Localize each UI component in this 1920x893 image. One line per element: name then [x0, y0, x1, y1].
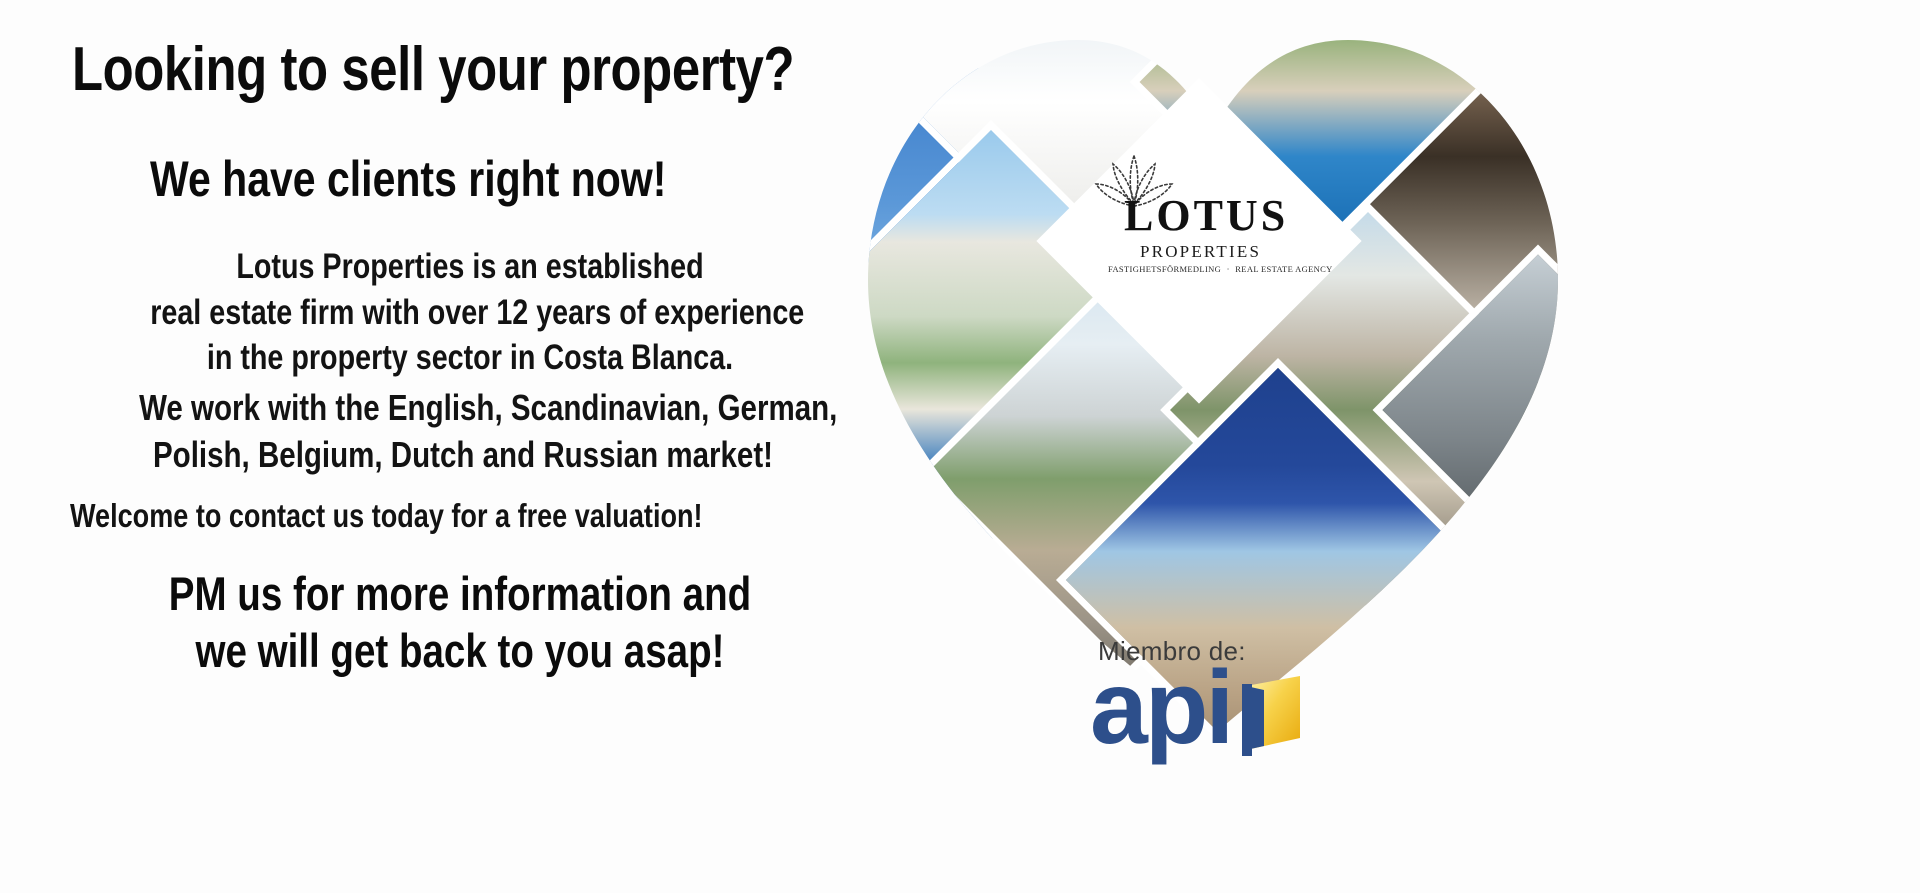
paragraph-valuation-invite: Welcome to contact us today for a free v… — [70, 495, 870, 538]
api-wordmark: api — [1090, 656, 1231, 760]
lotus-wordmark: LOTUS — [1124, 194, 1288, 238]
call-to-action: PM us for more information and we will g… — [60, 565, 860, 680]
lotus-tagline: FASTIGHETSFÖRMEDLING · REAL ESTATE AGENC… — [1108, 264, 1333, 274]
cta-line: PM us for more information and — [132, 565, 788, 622]
tagline-swedish: FASTIGHETSFÖRMEDLING — [1108, 264, 1221, 274]
paragraph-line: Polish, Belgium, Dutch and Russian marke… — [139, 432, 787, 479]
paragraph-line: Welcome to contact us today for a free v… — [70, 495, 726, 538]
paragraph-line: in the property sector in Costa Blanca. — [150, 335, 790, 381]
advertisement-poster: Looking to sell your property? We have c… — [0, 0, 1920, 893]
paragraph-markets: We work with the English, Scandinavian, … — [68, 385, 858, 479]
api-membership-badge: Miembro de: api — [1090, 636, 1310, 776]
paragraph-line: real estate firm with over 12 years of e… — [150, 290, 790, 336]
cta-line: we will get back to you asap! — [132, 622, 788, 679]
page-headline: Looking to sell your property? — [72, 34, 794, 105]
lotus-logo: LOTUS PROPERTIES FASTIGHETSFÖRMEDLING · … — [1080, 150, 1330, 320]
api-door-icon — [1242, 676, 1304, 756]
page-subheadline: We have clients right now! — [150, 150, 666, 208]
paragraph-line: We work with the English, Scandinavian, … — [139, 385, 787, 432]
tagline-english: REAL ESTATE AGENCY — [1235, 264, 1332, 274]
paragraph-line: Lotus Properties is an established — [150, 244, 790, 290]
lotus-subtitle: PROPERTIES — [1140, 242, 1261, 262]
api-logo: api — [1090, 672, 1305, 772]
tagline-separator: · — [1227, 264, 1230, 274]
paragraph-company-intro: Lotus Properties is an established real … — [80, 244, 860, 381]
